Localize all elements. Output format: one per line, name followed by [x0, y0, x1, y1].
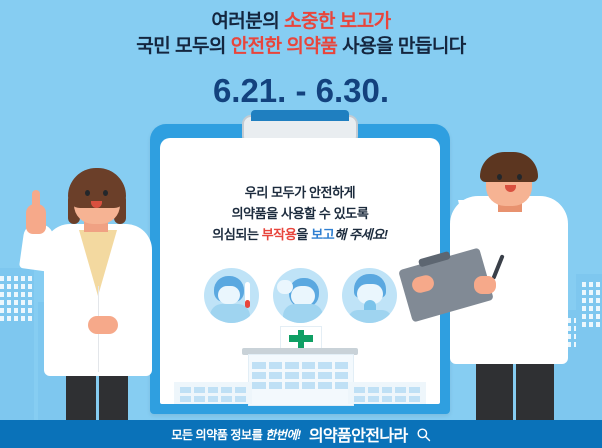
tagline-italic: 한번에! — [265, 428, 301, 442]
clipboard-message-line-1: 우리 모두가 안전하게 — [160, 182, 440, 203]
clipboard-message-line-2: 의약품을 사용할 수 있도록 — [160, 203, 440, 224]
clipboard-msg3-red: 부작용 — [262, 227, 297, 242]
clipboard-message-line-3: 의심되는 부작용을 보고해 주세요! — [160, 224, 440, 245]
hospital-wing-left — [174, 382, 252, 404]
female-doctor-coat — [44, 224, 152, 376]
female-doctor — [22, 130, 172, 420]
nausea-vomiting-icon — [342, 268, 397, 323]
clipboard-msg3-mid: 을 — [296, 227, 311, 242]
hospital-windows — [252, 362, 348, 389]
fever-thermometer-icon — [204, 268, 259, 323]
symptom-icon-row — [160, 268, 440, 323]
male-doctor-hair — [480, 152, 538, 182]
male-doctor — [424, 120, 584, 420]
clipboard-msg3-before: 의심되는 — [212, 227, 261, 242]
headline-line-1-highlight: 소중한 보고가 — [284, 11, 391, 32]
campaign-banner: 여러분의 소중한 보고가 국민 모두의 안전한 의약품 사용을 만듭니다 6.2… — [0, 0, 602, 448]
clipboard-message: 우리 모두가 안전하게 의약품을 사용할 수 있도록 의심되는 부작용을 보고해… — [160, 182, 440, 245]
headache-icon — [273, 268, 328, 323]
magnifier-icon[interactable] — [416, 427, 431, 442]
headline-line-1-plain: 여러분의 — [211, 11, 284, 32]
tagline-plain: 모든 의약품 정보를 — [171, 428, 265, 442]
bottom-bar-tagline: 모든 의약품 정보를 한번에! — [171, 426, 300, 443]
headline: 여러분의 소중한 보고가 국민 모두의 안전한 의약품 사용을 만듭니다 — [0, 10, 602, 59]
headline-line-2-plain-after: 사용을 만듭니다 — [337, 36, 465, 57]
pointing-up-hand-icon — [32, 190, 40, 212]
bottom-brand-bar[interactable]: 모든 의약품 정보를 한번에! 의약품안전나라 — [0, 420, 602, 448]
headline-line-1: 여러분의 소중한 보고가 — [0, 10, 602, 35]
brand-name[interactable]: 의약품안전나라 — [309, 422, 408, 446]
campaign-date-range: 6.21. - 6.30. — [0, 72, 602, 110]
clipboard-paper: 우리 모두가 안전하게 의약품을 사용할 수 있도록 의심되는 부작용을 보고해… — [160, 138, 440, 404]
headline-line-2: 국민 모두의 안전한 의약품 사용을 만듭니다 — [0, 35, 602, 60]
clipboard-msg3-after: 해 주세요! — [334, 227, 387, 242]
clipboard-msg3-blue: 보고 — [311, 227, 334, 242]
hospital-wing-right — [348, 382, 426, 404]
headline-line-2-highlight: 안전한 의약품 — [231, 36, 338, 57]
hospital-building — [160, 334, 440, 404]
headline-line-2-plain-before: 국민 모두의 — [136, 36, 230, 57]
